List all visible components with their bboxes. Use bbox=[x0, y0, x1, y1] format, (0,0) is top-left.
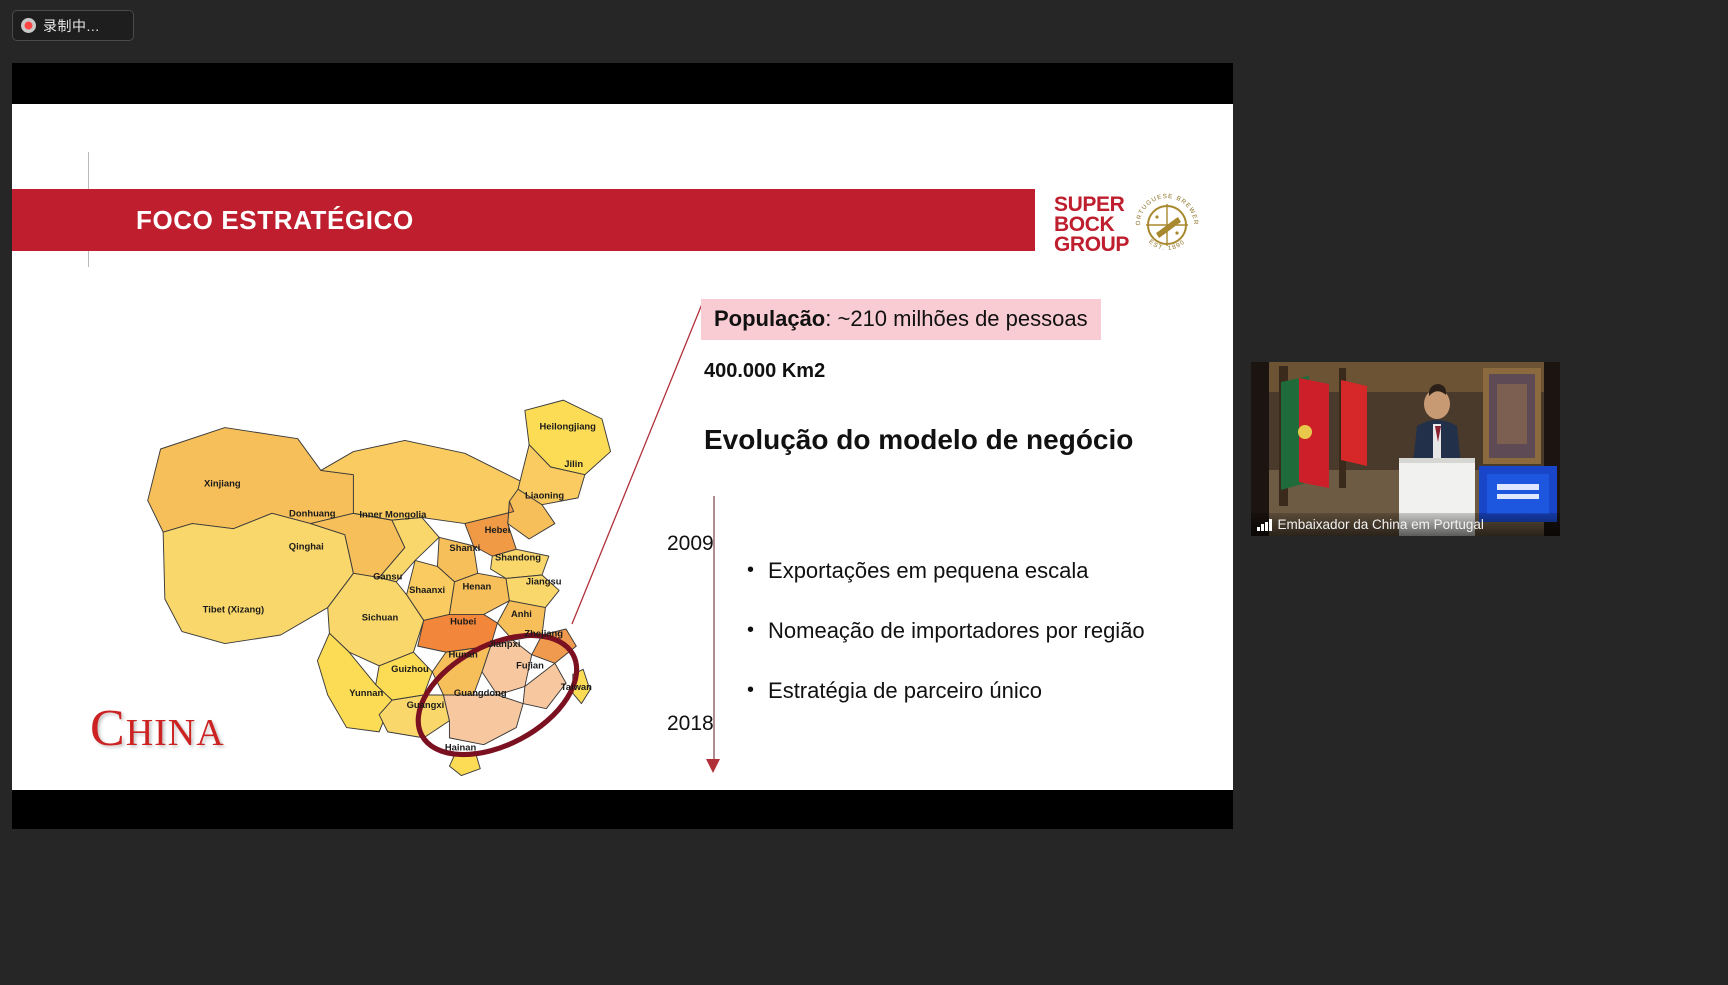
bullet-dot-icon: • bbox=[747, 559, 754, 582]
video-feed bbox=[1251, 362, 1560, 536]
map-country-label: CHINA bbox=[90, 699, 225, 758]
population-separator: : bbox=[825, 306, 837, 331]
svg-text:PORTUGUESE BREWERY: PORTUGUESE BREWERY bbox=[1131, 189, 1199, 226]
svg-text:Jiangsu: Jiangsu bbox=[526, 575, 562, 586]
svg-text:Inner Mongolia: Inner Mongolia bbox=[359, 509, 427, 520]
timeline-end-year: 2018 bbox=[667, 712, 714, 736]
logo-line-1: SUPER bbox=[1054, 195, 1129, 215]
svg-text:Shanxi: Shanxi bbox=[449, 542, 480, 553]
meeting-screen: 录制中... FOCO ESTRATÉGICO SUPER BOCK GROUP bbox=[0, 0, 1728, 985]
svg-text:Gansu: Gansu bbox=[373, 570, 403, 581]
svg-text:Hainan: Hainan bbox=[445, 742, 477, 753]
recording-label: 录制中... bbox=[43, 16, 100, 36]
bullet-dot-icon: • bbox=[747, 679, 754, 702]
area-value: 400.000 Km2 bbox=[704, 360, 825, 383]
participant-video-tile[interactable]: Embaixador da China em Portugal bbox=[1251, 362, 1560, 536]
population-callout: População: ~210 milhões de pessoas bbox=[701, 299, 1101, 340]
population-label: População bbox=[714, 306, 825, 331]
svg-text:Henan: Henan bbox=[462, 581, 491, 592]
svg-text:Hunan: Hunan bbox=[449, 648, 479, 659]
bullet-text: Nomeação de importadores por região bbox=[768, 619, 1145, 643]
china-map: Heilongjiang Jilin Liaoning Xinjiang Don… bbox=[52, 299, 672, 779]
list-item: • Exportações em pequena escala bbox=[747, 559, 1217, 583]
logo-line-3: GROUP bbox=[1054, 235, 1129, 255]
svg-text:Qinghai: Qinghai bbox=[289, 540, 324, 551]
svg-text:Hubei: Hubei bbox=[450, 616, 476, 627]
map-country-label-small: HINA bbox=[126, 712, 225, 754]
svg-text:Guangxi: Guangxi bbox=[407, 699, 445, 710]
svg-text:Jilin: Jilin bbox=[564, 458, 583, 469]
super-bock-group-logo: SUPER BOCK GROUP bbox=[1054, 184, 1224, 266]
signal-bars-icon bbox=[1257, 519, 1272, 531]
presentation-slide: FOCO ESTRATÉGICO SUPER BOCK GROUP bbox=[12, 104, 1233, 790]
bullet-dot-icon: • bbox=[747, 619, 754, 642]
svg-text:Yunnan: Yunnan bbox=[349, 687, 383, 698]
bullet-text: Exportações em pequena escala bbox=[768, 559, 1088, 583]
timeline-start-year: 2009 bbox=[667, 532, 714, 556]
participant-name: Embaixador da China em Portugal bbox=[1278, 517, 1484, 532]
svg-text:Taiwan: Taiwan bbox=[561, 681, 592, 692]
list-item: • Estratégia de parceiro único bbox=[747, 679, 1217, 703]
bullet-text: Estratégia de parceiro único bbox=[768, 679, 1042, 703]
svg-text:Heilongjiang: Heilongjiang bbox=[539, 420, 596, 431]
svg-text:Xinjiang: Xinjiang bbox=[204, 478, 241, 489]
svg-text:Hebei: Hebei bbox=[485, 524, 511, 535]
timeline-bullet-list: • Exportações em pequena escala • Nomeaç… bbox=[747, 559, 1217, 740]
svg-text:Donhuang: Donhuang bbox=[289, 508, 336, 519]
population-value: ~210 milhões de pessoas bbox=[837, 306, 1087, 331]
svg-text:Tibet (Xizang): Tibet (Xizang) bbox=[203, 604, 265, 615]
record-dot-icon bbox=[21, 18, 36, 33]
shared-screen-area: FOCO ESTRATÉGICO SUPER BOCK GROUP bbox=[12, 63, 1233, 829]
svg-text:Shaanxi: Shaanxi bbox=[409, 584, 445, 595]
recording-indicator[interactable]: 录制中... bbox=[12, 10, 134, 41]
svg-text:Shandong: Shandong bbox=[495, 551, 541, 562]
slide-title-bar: FOCO ESTRATÉGICO bbox=[12, 189, 1035, 251]
svg-text:Sichuan: Sichuan bbox=[362, 611, 399, 622]
svg-text:Anhi: Anhi bbox=[511, 608, 532, 619]
svg-text:Guangdong: Guangdong bbox=[454, 687, 507, 698]
svg-text:Jianpxi: Jianpxi bbox=[488, 638, 520, 649]
svg-text:Guizhou: Guizhou bbox=[391, 663, 429, 674]
timeline-arrow-icon bbox=[706, 759, 720, 773]
svg-text:Zhejiang: Zhejiang bbox=[524, 628, 563, 639]
list-item: • Nomeação de importadores por região bbox=[747, 619, 1217, 643]
logo-wordmark: SUPER BOCK GROUP bbox=[1054, 195, 1129, 255]
evolution-heading: Evolução do modelo de negócio bbox=[704, 424, 1133, 456]
svg-text:Liaoning: Liaoning bbox=[525, 490, 564, 501]
slide-title: FOCO ESTRATÉGICO bbox=[136, 205, 414, 236]
brewery-badge-icon: PORTUGUESE BREWERY EST. 1890 bbox=[1131, 189, 1203, 261]
logo-line-2: BOCK bbox=[1054, 215, 1129, 235]
svg-text:Fujian: Fujian bbox=[516, 659, 544, 670]
video-caption: Embaixador da China em Portugal bbox=[1251, 513, 1560, 536]
